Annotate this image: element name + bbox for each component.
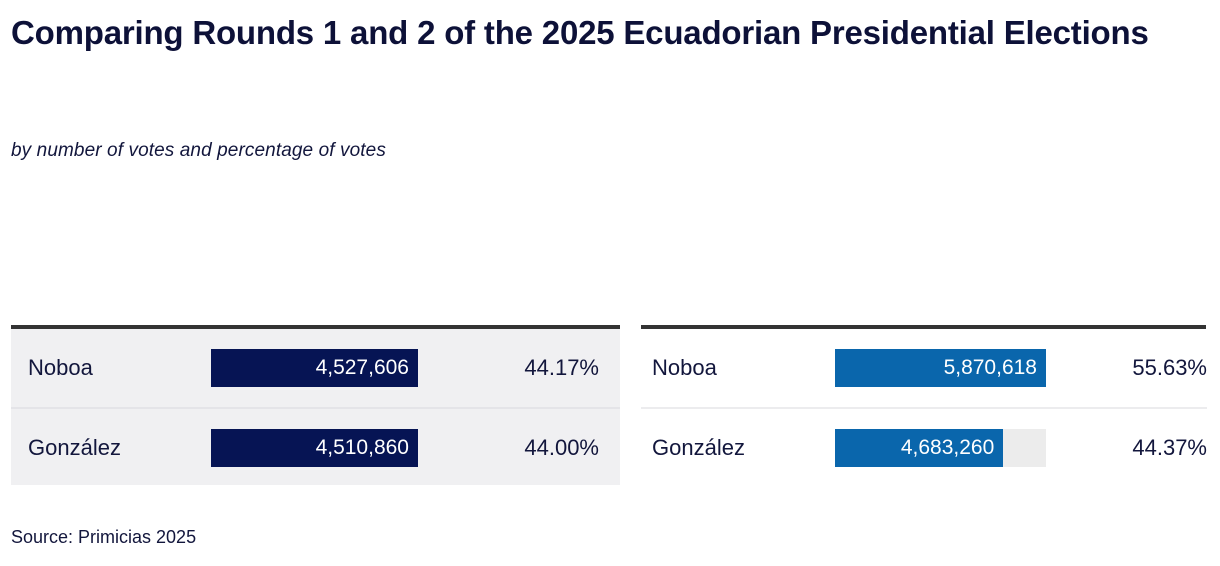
percent-value: 55.63% — [1132, 329, 1207, 407]
table-row[interactable]: Noboa 5,870,618 55.63% — [641, 329, 1207, 407]
bar-value-label: 4,683,260 — [901, 436, 1003, 460]
candidate-name: Noboa — [28, 329, 93, 407]
table-row[interactable]: Noboa 4,527,606 44.17% — [11, 329, 620, 407]
bar-fill: 4,527,606 — [211, 349, 418, 387]
percent-value: 44.37% — [1132, 409, 1207, 487]
bar-value-label: 4,510,860 — [316, 436, 418, 460]
candidate-name: González — [28, 409, 121, 487]
comparison-tables: Round 1 Noboa 4,527,606 44.17% González — [0, 218, 1220, 493]
percent-value: 44.00% — [524, 409, 599, 487]
bar-value-label: 5,870,618 — [944, 356, 1046, 380]
bar-fill: 5,870,618 — [835, 349, 1046, 387]
bar-fill: 4,510,860 — [211, 429, 418, 467]
bar-track: 4,527,606 — [211, 349, 418, 387]
bar-track: 5,870,618 — [835, 349, 1046, 387]
percent-value: 44.17% — [524, 329, 599, 407]
page-title: Comparing Rounds 1 and 2 of the 2025 Ecu… — [11, 14, 1211, 53]
chart-page: Comparing Rounds 1 and 2 of the 2025 Ecu… — [0, 0, 1220, 566]
bar-track: 4,510,860 — [211, 429, 418, 467]
candidate-name: González — [652, 409, 745, 487]
source-note: Source: Primicias 2025 — [11, 527, 196, 548]
rows-round-1: Noboa 4,527,606 44.17% González 4,510,86… — [11, 329, 620, 485]
table-row[interactable]: González 4,510,860 44.00% — [11, 407, 620, 485]
candidate-name: Noboa — [652, 329, 717, 407]
table-row[interactable]: González 4,683,260 44.37% — [641, 407, 1207, 485]
rows-round-2: Noboa 5,870,618 55.63% González 4,683,26… — [641, 329, 1207, 485]
table-round-1: Round 1 Noboa 4,527,606 44.17% González — [11, 218, 620, 493]
bar-track: 4,683,260 — [835, 429, 1046, 467]
table-round-2: Round 2 Noboa 5,870,618 55.63% González — [641, 218, 1207, 493]
page-subtitle: by number of votes and percentage of vot… — [11, 140, 386, 162]
bar-value-label: 4,527,606 — [316, 356, 418, 380]
bar-fill: 4,683,260 — [835, 429, 1003, 467]
